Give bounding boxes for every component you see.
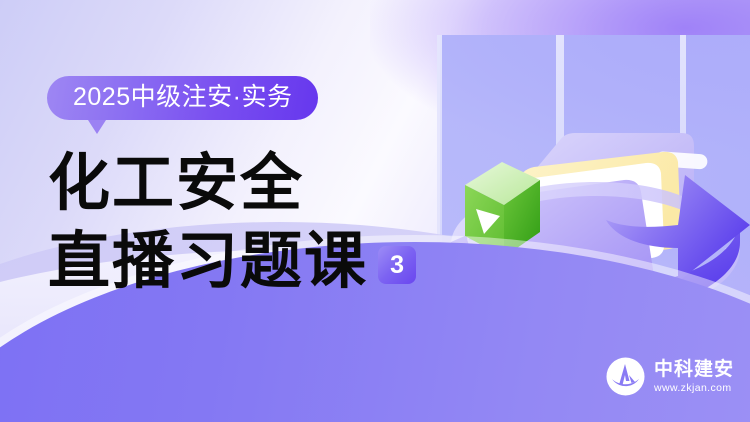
circular-swoosh-logo-icon	[606, 357, 645, 396]
episode-number-badge: 3	[378, 246, 416, 284]
badge-tail	[88, 120, 106, 134]
folder-documents-rotating-arrow-illustration	[410, 20, 750, 350]
course-category-badge: 2025中级注安·实务	[47, 76, 318, 120]
promo-poster: 2025中级注安·实务 化工安全 直播习题课3 中科建安 www.zkjan.c…	[0, 0, 750, 422]
brand-logo-text: 中科建安 www.zkjan.com	[654, 360, 734, 394]
page-title: 化工安全 直播习题课3	[48, 152, 416, 294]
brand-url: www.zkjan.com	[654, 382, 734, 394]
title-line-1-text: 化工安全	[48, 150, 304, 218]
title-line-2: 直播习题课3	[48, 230, 416, 294]
title-line-1: 化工安全	[48, 152, 416, 216]
course-category-badge-label: 2025中级注安·实务	[47, 76, 318, 120]
brand-logo: 中科建安 www.zkjan.com	[606, 357, 734, 396]
title-line-2-text: 直播习题课	[48, 228, 368, 296]
brand-name: 中科建安	[654, 360, 734, 380]
